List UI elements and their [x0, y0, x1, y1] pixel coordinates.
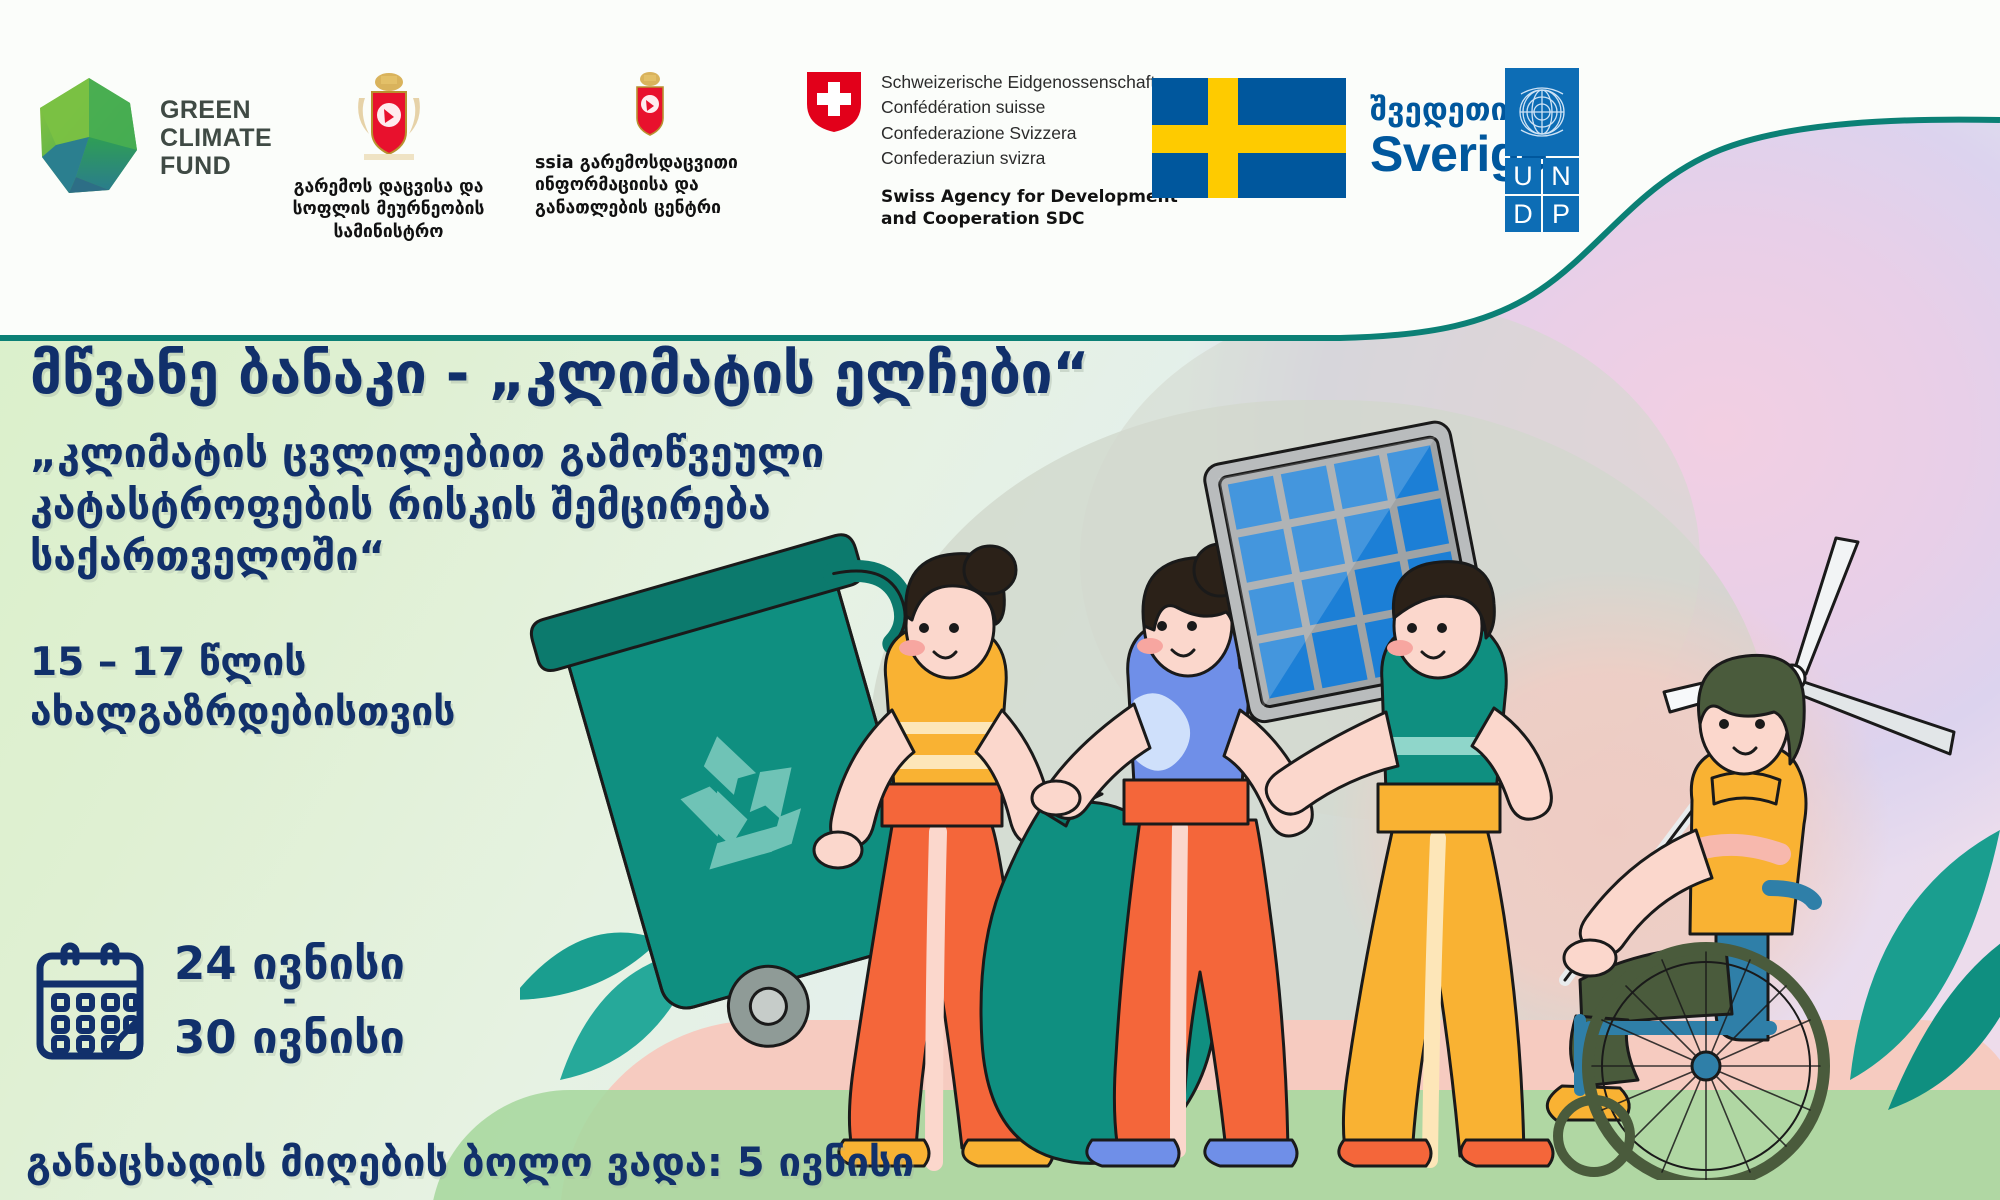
cenn-line-1: ssia გარემოსდაცვითი	[535, 152, 765, 174]
logo-green-climate-fund: GREEN CLIMATE FUND	[34, 75, 272, 200]
page-title: მწვანე ბანაკი - „კლიმატის ელჩები“	[30, 345, 1090, 404]
cenn-label: ssia გარემოსდაცვითი ინფორმაციისა და განა…	[535, 152, 765, 219]
gcf-wordmark: GREEN CLIMATE FUND	[160, 96, 272, 180]
application-deadline: განაცხადის მიღების ბოლო ვადა: 5 ივნისი	[26, 1140, 914, 1186]
sdc-bold-line-1: Swiss Agency for Development	[881, 186, 1178, 209]
moepa-label: გარემოს დაცვისა და სოფლის მეურნეობის სამ…	[266, 176, 511, 243]
cenn-line-2: ინფორმაციისა და	[535, 174, 765, 196]
georgia-coat-of-arms-icon	[354, 70, 424, 168]
swiss-shield-icon	[805, 70, 863, 134]
un-emblem-icon	[1505, 68, 1579, 156]
date-block: 24 ივნისი - 30 ივნისი	[34, 940, 405, 1062]
undp-letter-p: P	[1543, 196, 1579, 232]
undp-letter-grid: U N D P	[1505, 158, 1579, 232]
georgia-coat-of-arms-small-icon	[624, 70, 676, 144]
gcf-line-2: CLIMATE	[160, 124, 272, 152]
event-dates: 24 ივნისი - 30 ივნისი	[174, 941, 405, 1062]
logo-swiss-confederation: Schweizerische Eidgenossenschaft Confédé…	[805, 70, 1178, 231]
age-range: 15 – 17 წლის ახალგაზრდებისთვის	[30, 638, 1090, 737]
calendar-icon	[34, 940, 146, 1062]
subtitle-line-2: კატასტროფების რისკის შემცირება	[30, 480, 1090, 531]
gcf-line-3: FUND	[160, 152, 272, 180]
poster-root: GREEN CLIMATE FUND გარემოს და	[0, 0, 2000, 1200]
logo-environmental-info-centre: ssia გარემოსდაცვითი ინფორმაციისა და განა…	[535, 70, 765, 219]
cenn-line-3: განათლების ცენტრი	[535, 197, 765, 219]
age-line-1: 15 – 17 წლის	[30, 638, 1090, 688]
date-end: 30 ივნისი	[174, 1015, 405, 1061]
sdc-bold-line-2: and Cooperation SDC	[881, 208, 1178, 231]
gcf-globe-icon	[34, 75, 144, 200]
logo-undp: U N D P	[1505, 68, 1579, 232]
main-copy: მწვანე ბანაკი - „კლიმატის ელჩები“ „კლიმა…	[30, 345, 1090, 737]
undp-letter-n: N	[1543, 158, 1579, 194]
sdc-agency-label: Swiss Agency for Development and Coopera…	[881, 186, 1178, 232]
age-line-2: ახალგაზრდებისთვის	[30, 688, 1090, 738]
undp-letter-d: D	[1505, 196, 1541, 232]
logo-sweden: შვედეთი Sverige	[1152, 78, 1547, 198]
gcf-line-1: GREEN	[160, 96, 272, 124]
sweden-flag-icon	[1152, 78, 1346, 198]
undp-letter-u: U	[1505, 158, 1541, 194]
swiss-line-rm: Confederaziun svizra	[881, 146, 1178, 171]
subtitle: „კლიმატის ცვლილებით გამოწვეული კატასტროფ…	[30, 428, 1090, 582]
swiss-names: Schweizerische Eidgenossenschaft Confédé…	[881, 70, 1178, 172]
swiss-line-de: Schweizerische Eidgenossenschaft	[881, 70, 1178, 95]
logo-ministry-environment: გარემოს დაცვისა და სოფლის მეურნეობის სამ…	[266, 70, 511, 243]
subtitle-line-1: „კლიმატის ცვლილებით გამოწვეული	[30, 428, 1090, 479]
subtitle-line-3: საქართველოში“	[30, 531, 1090, 582]
swiss-line-fr: Confédération suisse	[881, 95, 1178, 120]
swiss-line-it: Confederazione Svizzera	[881, 121, 1178, 146]
logo-bar: GREEN CLIMATE FUND გარემოს და	[0, 0, 2000, 250]
